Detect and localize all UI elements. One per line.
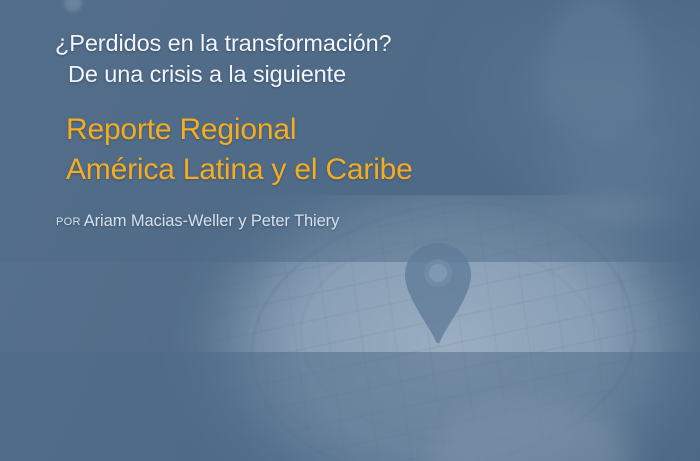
overlay-band-middle — [0, 262, 700, 352]
cover-subtitle-line-1: Reporte Regional — [66, 110, 296, 149]
cover-subtitle-line-2: América Latina y el Caribe — [66, 150, 413, 189]
map-pin-icon — [402, 241, 474, 345]
report-cover: ¿Perdidos en la transformación? De una c… — [0, 0, 700, 461]
cover-footer: BTI TRANSFORMATION INDEX 2024 — [0, 352, 700, 461]
byline-label: POR — [56, 216, 81, 228]
cover-title-line-2: De una crisis a la siguiente — [68, 59, 346, 90]
cover-title-line-1: ¿Perdidos en la transformación? — [55, 28, 392, 59]
byline: PORAriam Macias-Weller y Peter Thiery — [56, 212, 339, 231]
byline-authors: Ariam Macias-Weller y Peter Thiery — [84, 212, 339, 230]
